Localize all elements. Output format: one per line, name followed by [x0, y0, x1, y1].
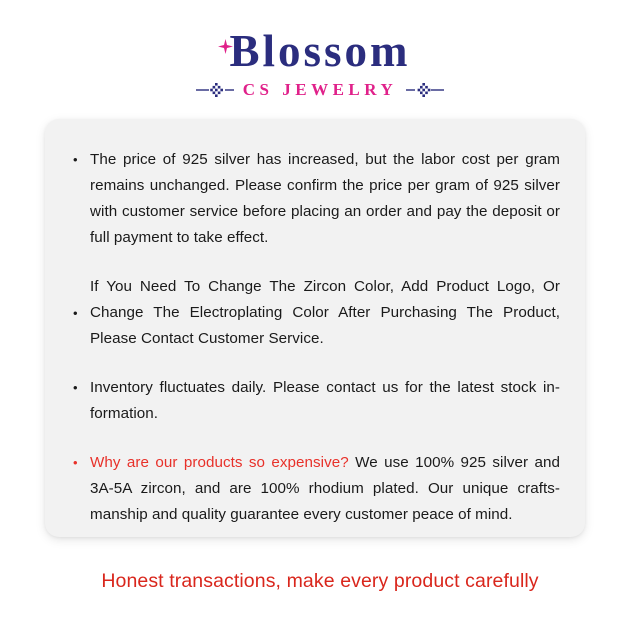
snowflake-ornament-icon-left — [196, 81, 236, 99]
brand-name: Blossom — [229, 28, 410, 75]
bullet-highlight-4: Why are our products so expensive? — [90, 454, 349, 471]
brand-subtitle-row: CS JEWELRY — [0, 80, 640, 100]
sparkle-diamond-icon — [218, 39, 233, 54]
notice-bullet-list: The price of 925 silver has increased, b… — [70, 147, 560, 528]
bullet-text-3: Inventory fluctuates daily. Please conta… — [90, 379, 560, 422]
snowflake-ornament-icon-right — [404, 81, 444, 99]
list-item: If You Need To Change The Zircon Color, … — [70, 274, 560, 352]
footer-slogan: Honest transactions, make every product … — [0, 570, 640, 593]
list-item: Inventory fluctuates daily. Please conta… — [70, 375, 560, 427]
list-item: The price of 925 silver has increased, b… — [70, 147, 560, 251]
brand-header: Blossom CS JEWELRY — [0, 0, 640, 100]
brand-subtitle: CS JEWELRY — [243, 80, 397, 100]
brand-name-row: Blossom — [229, 28, 410, 75]
list-item: Why are our products so expensive? We us… — [70, 450, 560, 528]
bullet-text-2: If You Need To Change The Zircon Color, … — [90, 278, 560, 347]
bullet-text-1: The price of 925 silver has increased, b… — [90, 151, 560, 246]
notice-card: The price of 925 silver has increased, b… — [45, 119, 585, 537]
